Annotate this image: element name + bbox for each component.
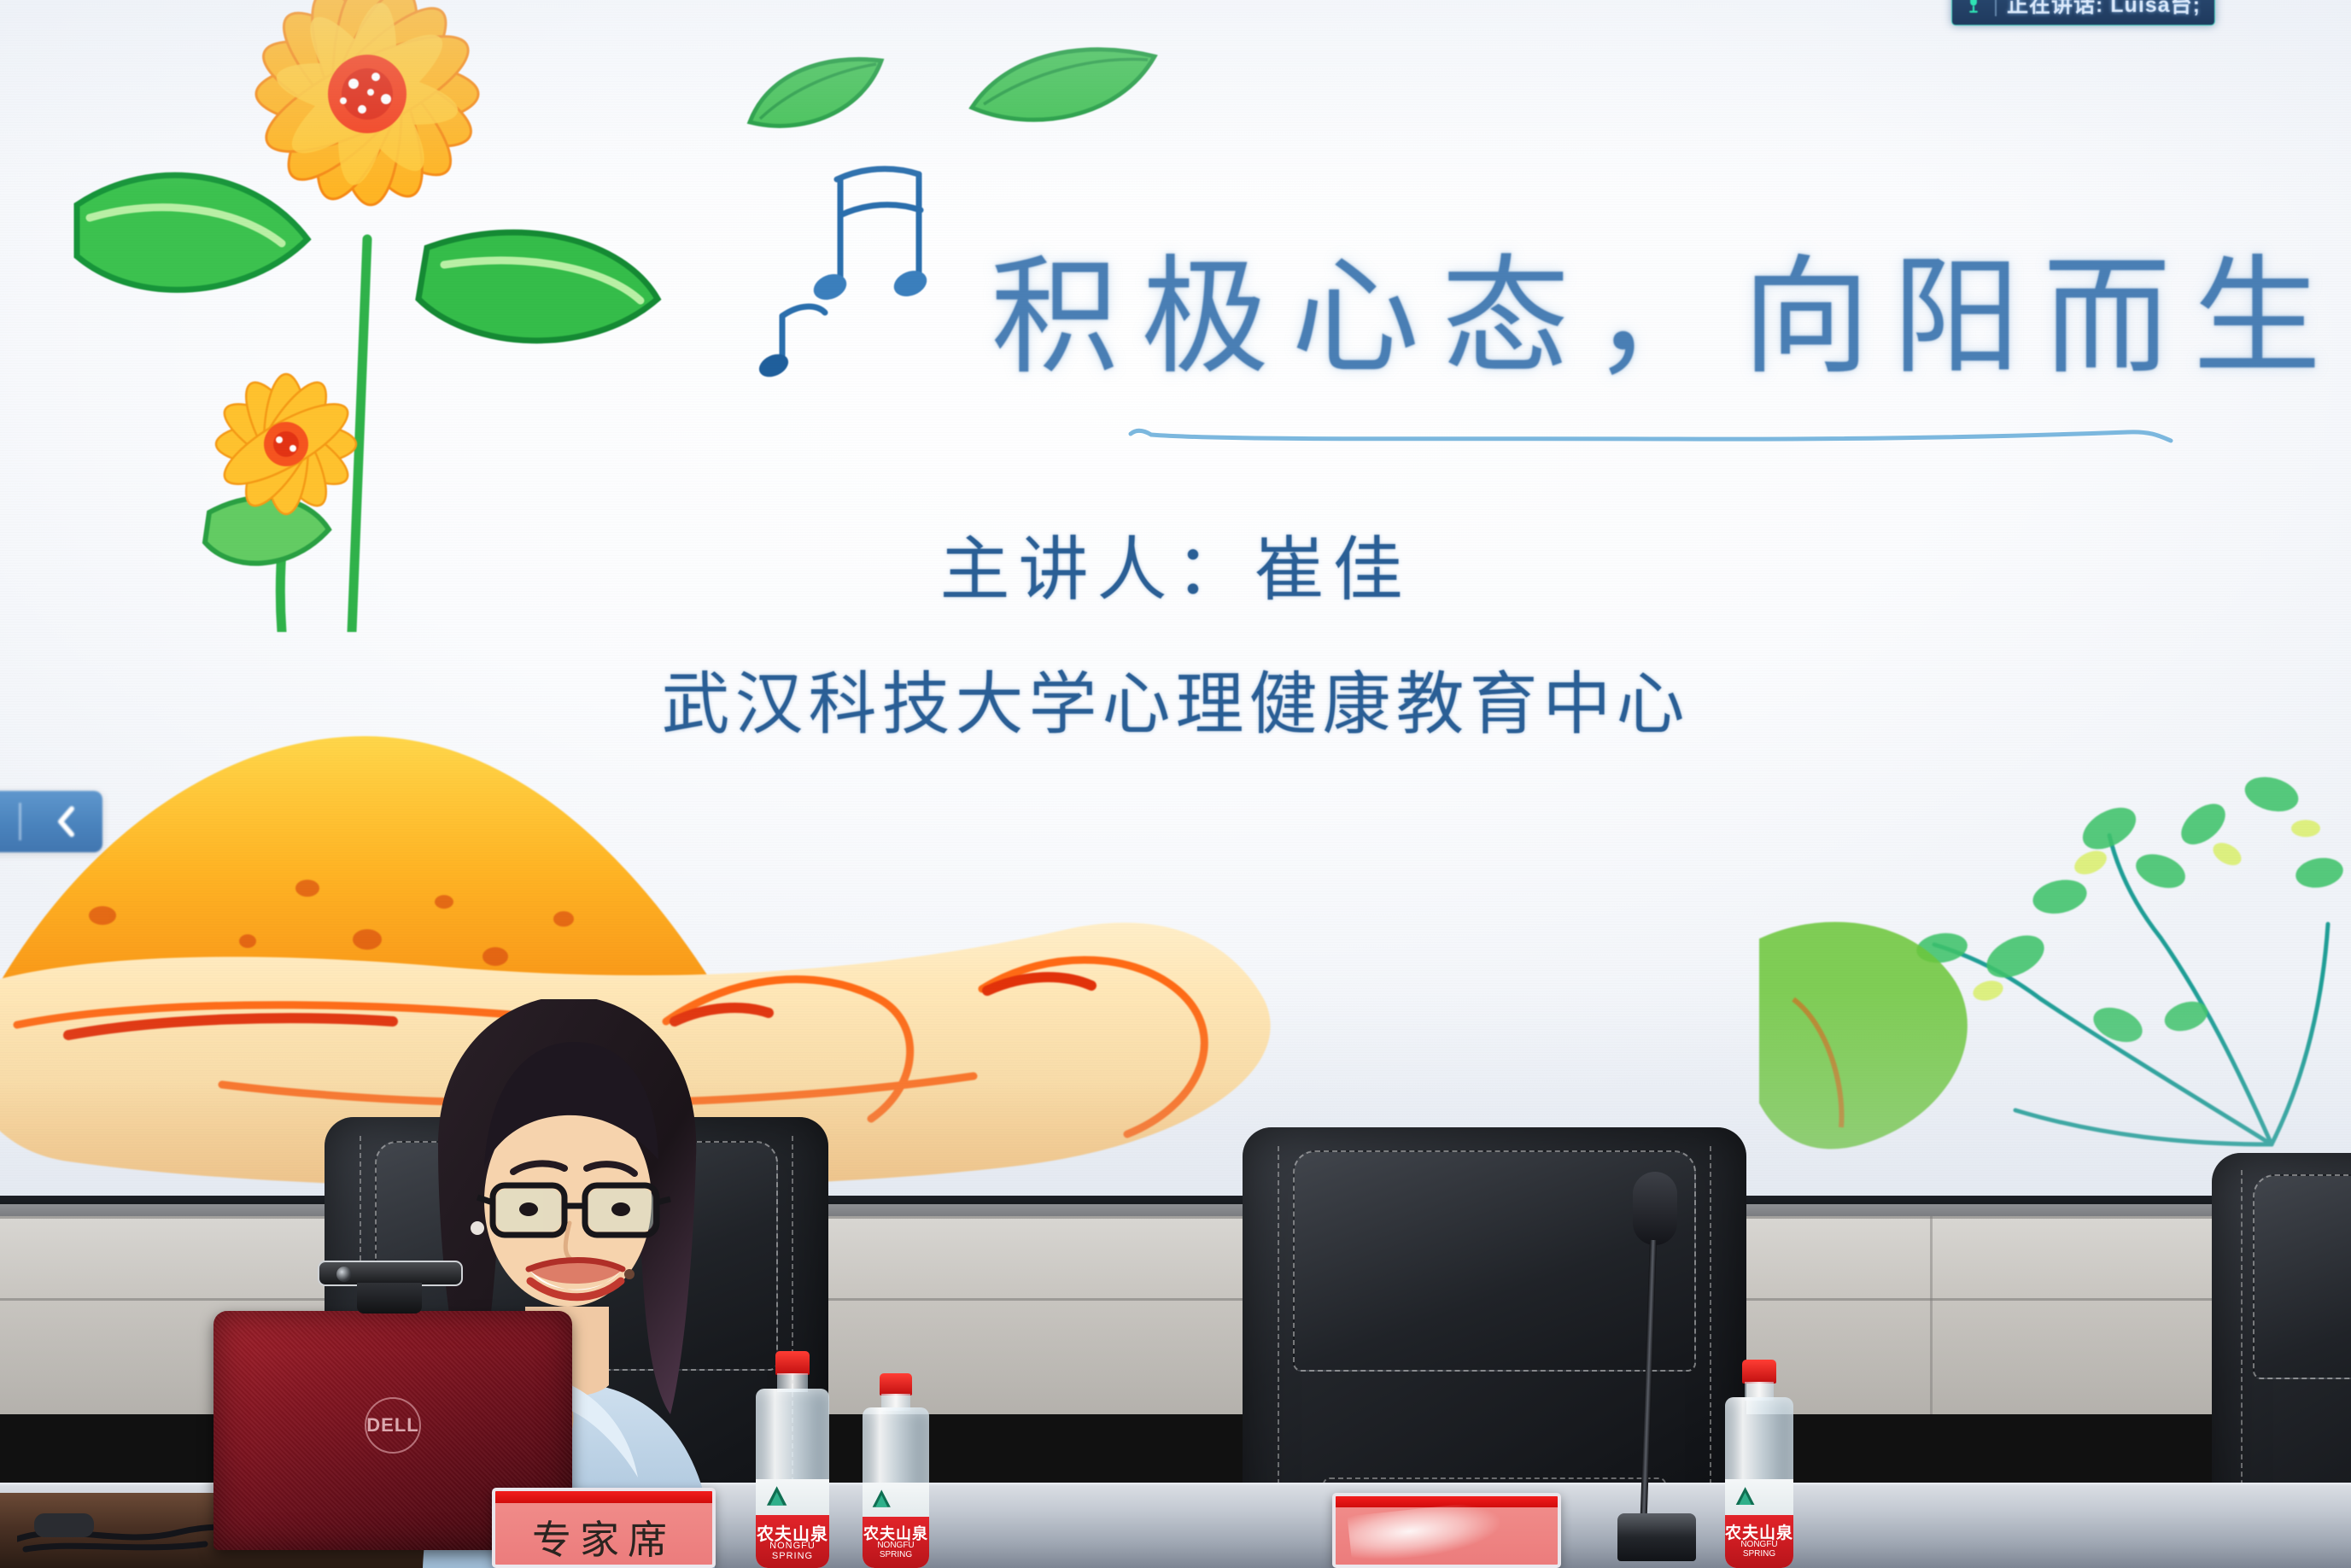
leaf-icon-left bbox=[743, 47, 888, 141]
bottle-cap bbox=[775, 1351, 810, 1375]
badge-divider bbox=[1995, 0, 1997, 16]
microphone-base bbox=[1617, 1513, 1696, 1561]
chair-headrest bbox=[2253, 1174, 2351, 1379]
bottle-brand-en: NONGFU SPRING bbox=[863, 1541, 929, 1559]
webcam-clip bbox=[357, 1283, 422, 1313]
bottle-cap bbox=[1742, 1360, 1776, 1384]
active-speaker-label: 正在讲话: Luisa台; bbox=[2007, 0, 2201, 19]
nameplate-holder bbox=[1332, 1493, 1561, 1568]
nameplate-secondary bbox=[1332, 1493, 1561, 1568]
microphone-icon bbox=[1962, 0, 1985, 15]
slide-speaker-line: 主讲人：崔佳 bbox=[0, 512, 2351, 614]
title-underline bbox=[1129, 427, 2173, 446]
screenshot-root: 积极心态，向阳而生 主讲人：崔佳 武汉科技大学心理健康教育中心 正在讲话: Lu… bbox=[0, 0, 2351, 1568]
bottle-cap bbox=[880, 1373, 912, 1395]
bottle-brand-en: NONGFU SPRING bbox=[1725, 1540, 1793, 1559]
gooseneck-microphone bbox=[1623, 1172, 1682, 1568]
nameplate-topbar bbox=[495, 1491, 712, 1503]
slide-title: 积极心态，向阳而生 bbox=[991, 214, 2343, 399]
leaf-icon-right bbox=[965, 34, 1161, 141]
microphone-neck bbox=[1640, 1240, 1657, 1522]
foliage-illustration bbox=[1759, 743, 2351, 1204]
microphone-head bbox=[1633, 1172, 1677, 1245]
wall-seam bbox=[1930, 1216, 1933, 1414]
tab-divider bbox=[19, 803, 21, 840]
water-bottle: 农夫山泉 NONGFU SPRING bbox=[756, 1351, 829, 1568]
water-bottle: 农夫山泉 NONGFU SPRING bbox=[863, 1373, 929, 1568]
active-speaker-badge[interactable]: 正在讲话: Luisa台; bbox=[1951, 0, 2215, 26]
chevron-left-icon bbox=[55, 804, 79, 839]
music-notes-icon bbox=[752, 154, 974, 384]
brand-logo-icon bbox=[870, 1486, 893, 1512]
collapse-panel-tab[interactable] bbox=[0, 791, 102, 852]
projection-screen: 积极心态，向阳而生 主讲人：崔佳 武汉科技大学心理健康教育中心 bbox=[0, 0, 2351, 1204]
nameplate-holder: 专家席 bbox=[492, 1488, 716, 1568]
brand-logo-icon bbox=[764, 1483, 789, 1510]
webcam bbox=[318, 1261, 463, 1313]
bottle-brand-en: NONGFU SPRING bbox=[756, 1541, 829, 1561]
nameplate-glare bbox=[1347, 1501, 1502, 1564]
nameplate-text: 专家席 bbox=[495, 1509, 712, 1565]
dell-logo: DELL bbox=[365, 1397, 421, 1454]
brand-logo-icon bbox=[1734, 1483, 1757, 1510]
nameplate-expert: 专家席 bbox=[492, 1488, 716, 1568]
webcam-lens bbox=[336, 1267, 352, 1282]
slide-organization: 武汉科技大学心理健康教育中心 bbox=[0, 649, 2351, 748]
water-bottle: 农夫山泉 NONGFU SPRING bbox=[1725, 1360, 1793, 1568]
